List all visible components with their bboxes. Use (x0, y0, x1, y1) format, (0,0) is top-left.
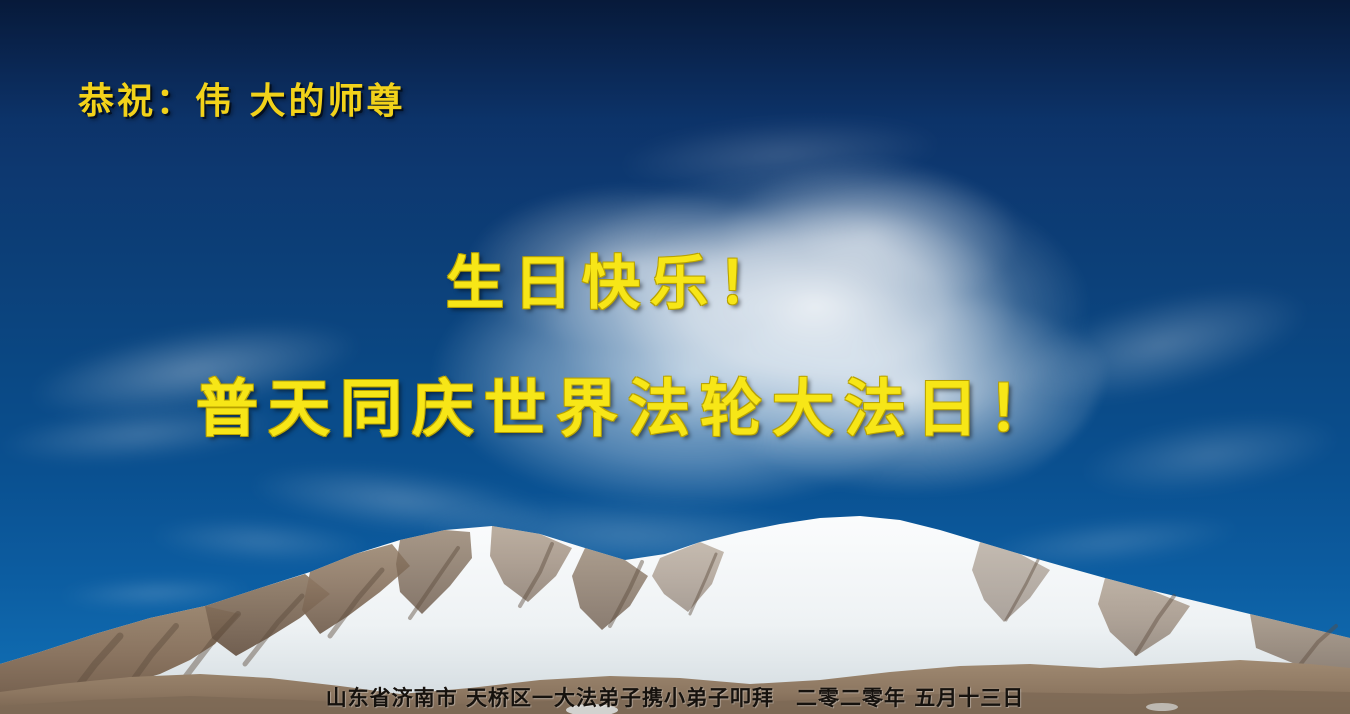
greeting-card: 恭祝：伟 大的师尊 生日快乐！ 普天同庆世界法轮大法日！ 山东省济南市 天桥区一… (0, 0, 1350, 714)
salutation-text: 恭祝：伟 大的师尊 (78, 72, 406, 124)
headline-line-1: 生日快乐！ (446, 236, 786, 320)
headline-line-2: 普天同庆世界法轮大法日！ (196, 358, 1060, 448)
signature-caption: 山东省济南市 天桥区一大法弟子携小弟子叩拜 二零二零年 五月十三日 (0, 682, 1350, 712)
main-cloud (415, 150, 1105, 540)
cloud-wisp (1076, 402, 1343, 508)
